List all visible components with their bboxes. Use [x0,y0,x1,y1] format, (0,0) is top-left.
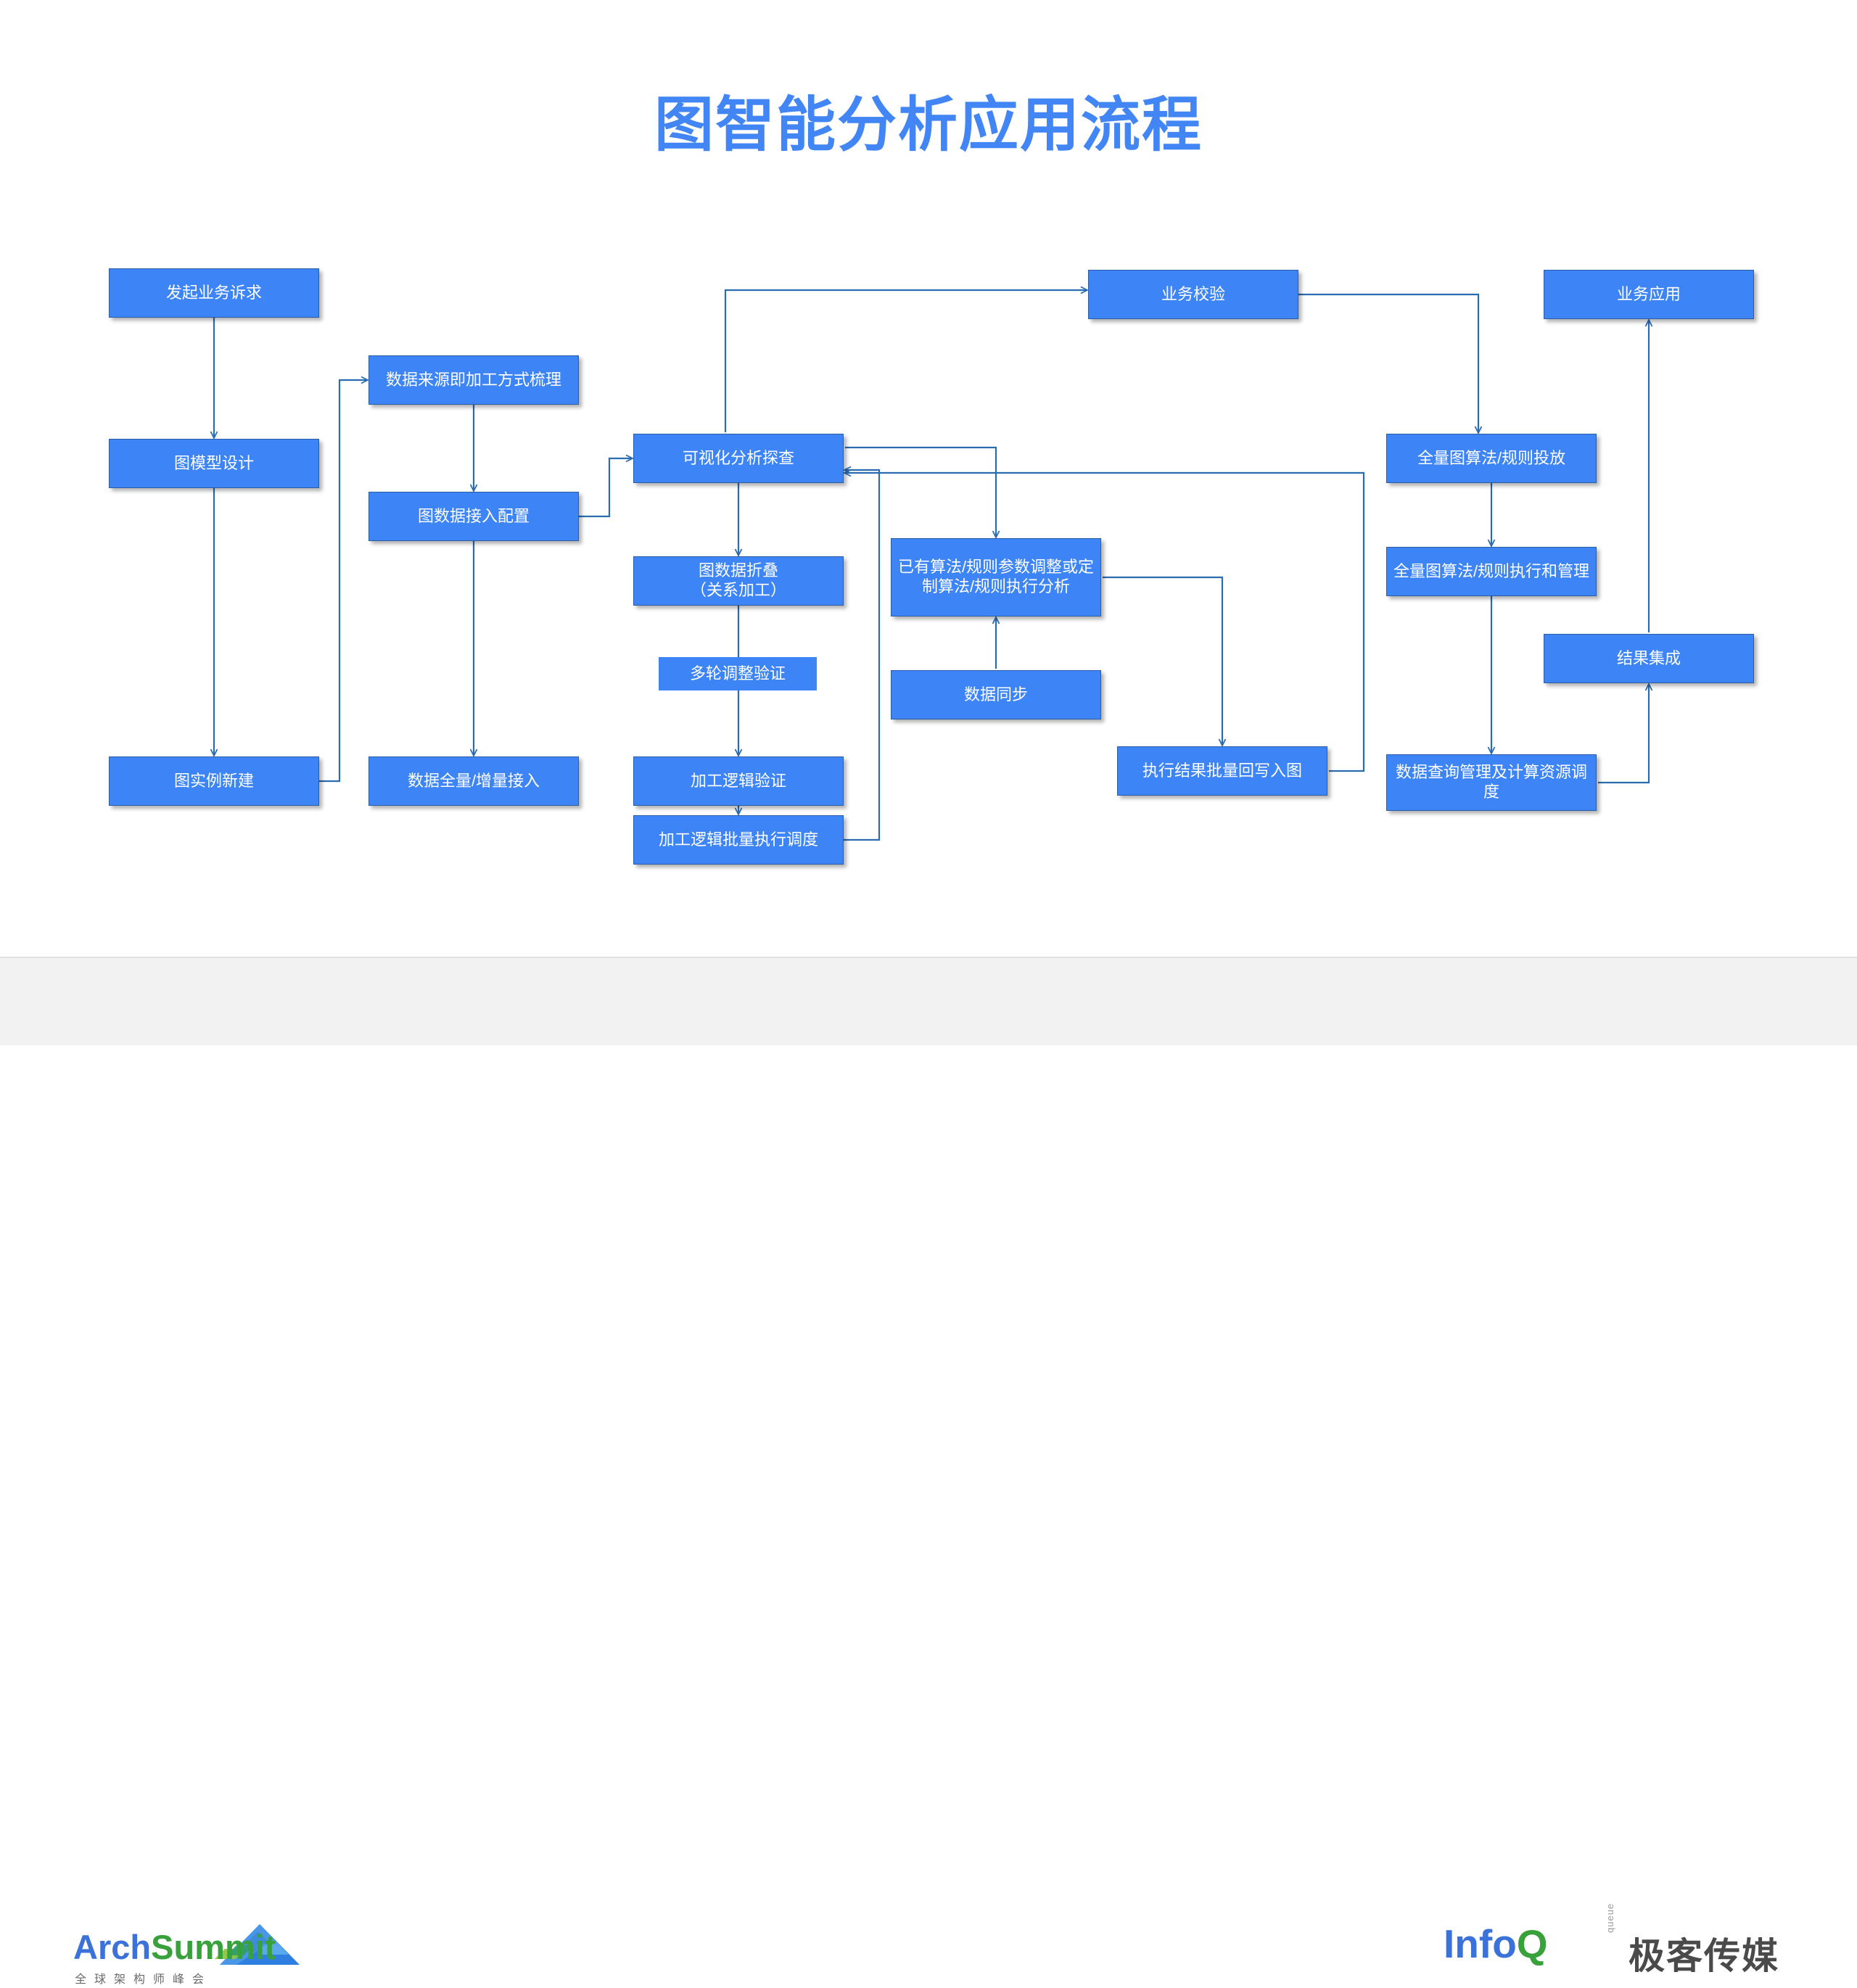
edge-n7-n15 [725,290,1087,432]
infoq-queue-text: queue [1605,1903,1615,1933]
edge-n3-n4 [319,380,367,781]
flow-node-n10[interactable]: 加工逻辑验证 [633,756,844,806]
flow-node-label: 结果集成 [1617,649,1681,669]
edge-n5-n7 [579,458,632,516]
flow-node-n20[interactable]: 结果集成 [1544,634,1754,683]
infoq-logo: InfoQ queue 极客传媒 [1444,1923,1813,1985]
archsummit-subtitle: 全球架构师峰会 [75,1969,212,1987]
flow-node-n15[interactable]: 业务校验 [1088,270,1298,319]
flow-node-n19[interactable]: 业务应用 [1544,270,1754,319]
flow-node-n12[interactable]: 已有算法/规则参数调整或定制算法/规则执行分析 [891,538,1101,616]
flow-node-label: 图实例新建 [174,772,254,791]
flow-node-n5[interactable]: 图数据接入配置 [368,492,579,541]
flow-node-n7[interactable]: 可视化分析探查 [633,434,844,483]
edge-n7-n12 [845,447,996,537]
flow-node-label: 图模型设计 [174,454,254,474]
edge-n15-n16 [1298,294,1478,432]
flow-node-label: 发起业务诉求 [166,284,262,303]
slide-canvas: 图智能分析应用流程 [0,0,1857,1044]
flow-node-label: 加工逻辑验证 [691,772,786,791]
flow-node-n8[interactable]: 图数据折叠（关系加工） [633,556,844,606]
flow-node-label: 全量图算法/规则执行和管理 [1393,562,1589,582]
infoq-word-green: Q [1517,1921,1548,1966]
archsummit-logo: ArchSummit 全球架构师峰会 [69,1926,308,1988]
flow-node-label: 可视化分析探查 [683,449,794,469]
archsummit-wordmark: ArchSummit [73,1930,276,1964]
infoq-chinese-name: 极客传媒 [1629,1927,1779,1979]
flow-node-n13[interactable]: 数据同步 [891,670,1101,719]
footer-band: ArchSummit 全球架构师峰会 InfoQ queue 极客传媒 [0,957,1857,1045]
flow-node-label: 业务校验 [1161,285,1225,305]
edge-n11-n7 [844,470,879,840]
flow-node-label: 数据全量/增量接入 [408,772,540,791]
flow-node-label: 数据来源即加工方式梳理 [386,371,561,390]
arch-word-blue: Arch [73,1928,151,1966]
flow-node-n16[interactable]: 全量图算法/规则投放 [1386,434,1597,483]
flow-node-n6[interactable]: 数据全量/增量接入 [368,756,579,806]
flow-node-label: 数据同步 [964,685,1028,705]
flow-node-label: 已有算法/规则参数调整或定制算法/规则执行分析 [896,558,1096,597]
infoq-word-blue: Info [1444,1921,1517,1966]
flow-node-n11[interactable]: 加工逻辑批量执行调度 [633,815,844,865]
flow-node-n3[interactable]: 图实例新建 [109,756,319,806]
flow-node-label: 多轮调整验证 [690,664,786,684]
flow-node-label: 业务应用 [1617,285,1681,305]
flow-node-n18[interactable]: 数据查询管理及计算资源调度 [1386,754,1597,811]
flow-node-label: 图数据接入配置 [418,507,530,527]
flow-node-n14[interactable]: 执行结果批量回写入图 [1117,746,1327,796]
flow-node-label: 加工逻辑批量执行调度 [659,830,818,850]
edge-n18-n20 [1598,685,1649,783]
flow-node-label: 数据查询管理及计算资源调度 [1391,763,1592,802]
flow-node-n9[interactable]: 多轮调整验证 [659,657,817,690]
flow-node-n2[interactable]: 图模型设计 [109,439,319,488]
flow-node-label: 图数据折叠（关系加工） [691,561,786,601]
edge-n12-n14 [1103,577,1222,745]
flow-node-label: 全量图算法/规则投放 [1417,449,1565,469]
infoq-wordmark: InfoQ [1444,1924,1548,1964]
edge-n14-n7 [845,473,1364,771]
flow-node-label: 执行结果批量回写入图 [1142,762,1302,781]
arch-word-green: Summit [151,1928,276,1966]
flow-node-n17[interactable]: 全量图算法/规则执行和管理 [1386,547,1597,596]
flow-node-n4[interactable]: 数据来源即加工方式梳理 [368,355,579,405]
flow-node-n1[interactable]: 发起业务诉求 [109,268,319,318]
